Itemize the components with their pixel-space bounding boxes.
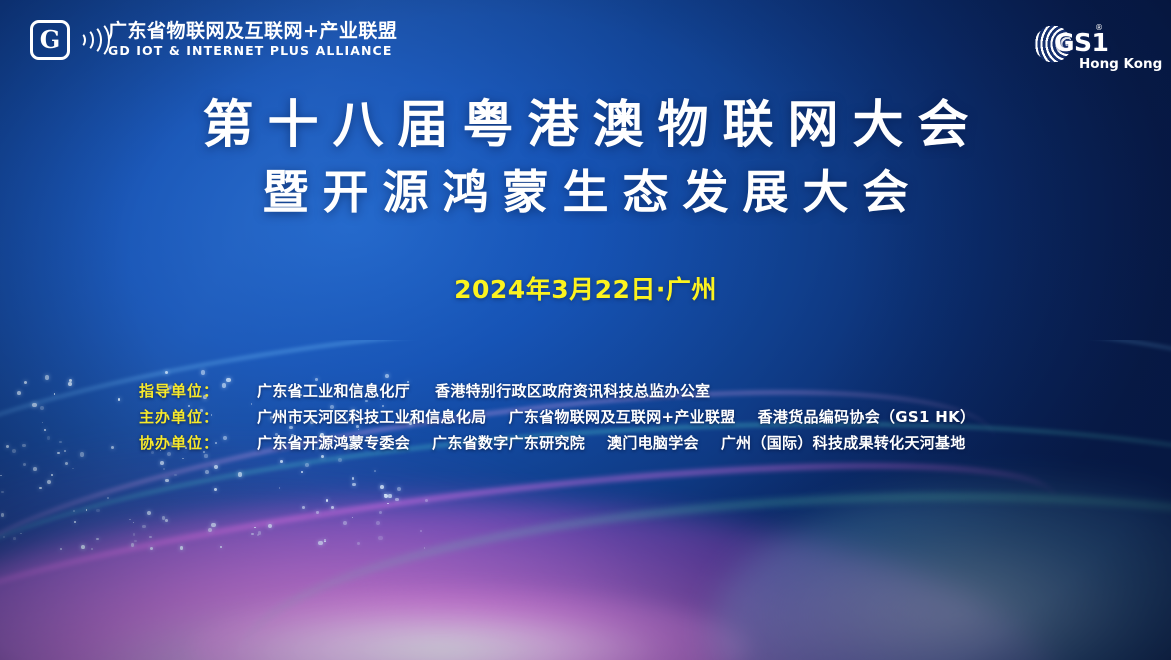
gs1-wordmark: GS1 [1054,28,1108,57]
conference-banner: G 广东省物联网及互联网+产业联盟 GD IOT & INTERNET PLUS… [0,0,1171,660]
organizer-label-guidance: 指导单位： [139,380,257,401]
organizer-label-host: 主办单位： [139,406,257,427]
organizer-item: 广州市天河区科技工业和信息化局 [257,406,487,427]
organizer-item: 广东省开源鸿蒙专委会 [257,432,410,453]
gs1-hongkong-logo: GS1 ® Hong Kong [1027,16,1145,78]
conference-title-line-2: 暨开源鸿蒙生态发展大会 [0,163,1171,223]
organizer-row-host: 主办单位： 广州市天河区科技工业和信息化局 广东省物联网及互联网+产业联盟 香港… [139,406,1019,427]
organizer-item: 广东省工业和信息化厅 [257,380,410,401]
organizer-items-guidance: 广东省工业和信息化厅 香港特别行政区政府资讯科技总监办公室 [257,380,710,401]
conference-title-line-1: 第十八届粤港澳物联网大会 [0,96,1171,156]
alliance-name-cn: 广东省物联网及互联网+产业联盟 [108,22,397,42]
conference-date-location: 2024年3月22日·广州 [0,270,1171,306]
organizer-item: 广东省物联网及互联网+产业联盟 [509,406,736,427]
gs1-region-label: Hong Kong [1079,56,1162,72]
wave-magenta-core-glow [190,590,750,660]
organizer-row-coorganizer: 协办单位： 广东省开源鸿蒙专委会 广东省数字广东研究院 澳门电脑学会 广州（国际… [139,432,1019,453]
organizer-item: 广东省数字广东研究院 [432,432,585,453]
alliance-logo-text: 广东省物联网及互联网+产业联盟 GD IOT & INTERNET PLUS A… [108,22,397,57]
organizer-item: 香港特别行政区政府资讯科技总监办公室 [435,380,710,401]
organizer-item: 香港货品编码协会（GS1 HK） [758,406,976,427]
signal-arcs-icon [73,23,99,57]
alliance-logo-mark: G [30,20,99,60]
organizer-row-guidance: 指导单位： 广东省工业和信息化厅 香港特别行政区政府资讯科技总监办公室 [139,380,1019,401]
organizer-items-host: 广州市天河区科技工业和信息化局 广东省物联网及互联网+产业联盟 香港货品编码协会… [257,406,975,427]
organizer-label-coorganizer: 协办单位： [139,432,257,453]
alliance-name-en: GD IOT & INTERNET PLUS ALLIANCE [108,44,397,57]
organizer-item: 澳门电脑学会 [607,432,699,453]
organizer-items-coorganizer: 广东省开源鸿蒙专委会 广东省数字广东研究院 澳门电脑学会 广州（国际）科技成果转… [257,432,966,453]
registered-trademark-icon: ® [1095,23,1103,32]
wave-haze-left [0,450,620,660]
alliance-g-monogram-icon: G [30,20,70,60]
organizer-item: 广州（国际）科技成果转化天河基地 [721,432,966,453]
wave-magenta-body [0,500,1070,660]
conference-title-block: 第十八届粤港澳物联网大会 暨开源鸿蒙生态发展大会 [0,96,1171,223]
wave-glow-right [711,480,1171,660]
organizers-block: 指导单位： 广东省工业和信息化厅 香港特别行政区政府资讯科技总监办公室 主办单位… [139,380,1019,458]
wave-streak-green [235,475,1171,660]
alliance-logo: G 广东省物联网及互联网+产业联盟 GD IOT & INTERNET PLUS… [30,20,397,60]
